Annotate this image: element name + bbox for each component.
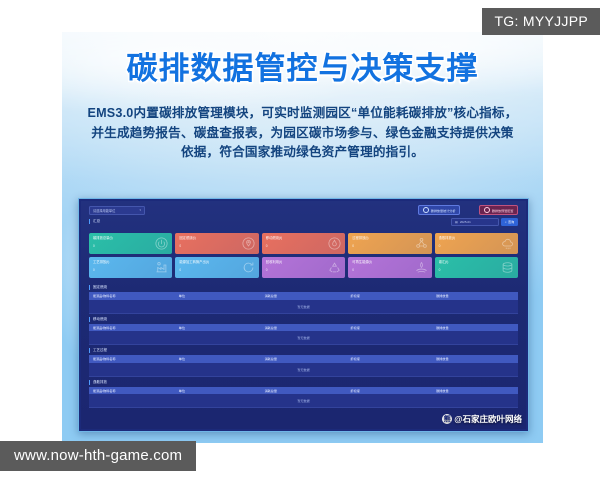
table-column-header: 碳排放量 bbox=[432, 325, 518, 330]
chevron-down-icon: ▾ bbox=[139, 209, 141, 212]
table-empty-state: 暂无数据 bbox=[89, 363, 518, 377]
table-column-header: 消耗总量 bbox=[261, 356, 347, 361]
kpi-card-value: 0 bbox=[266, 268, 345, 272]
table-section-title: 移动燃烧 bbox=[89, 317, 518, 322]
carbon-stats-button[interactable]: 碳排放量统计分析 bbox=[418, 205, 460, 215]
site-url-badge: www.now-hth-game.com bbox=[0, 441, 196, 471]
search-label: 查询 bbox=[508, 220, 514, 224]
kpi-card-value: 0 bbox=[439, 244, 518, 248]
kpi-card-value: 0 bbox=[93, 268, 172, 272]
unit-select-value: 请选择用能单位 bbox=[93, 208, 139, 213]
kpi-card-title: 能源加工转换产出(t) bbox=[179, 260, 258, 264]
watermark-logo-icon: 熊 bbox=[442, 414, 452, 424]
kpi-card-value: 0 bbox=[352, 244, 431, 248]
kpi-card-value: 0 bbox=[179, 244, 258, 248]
promo-description: EMS3.0内置碳排放管理模块，可实时监测园区“单位能耗碳排放”核心指标，并生成… bbox=[86, 104, 519, 163]
table-column-header: 折标煤 bbox=[346, 356, 432, 361]
table-column-header: 折标煤 bbox=[346, 388, 432, 393]
table-column-header: 能源品/物料名称 bbox=[89, 356, 175, 361]
watermark: 熊 @石家庄欧叶网络 bbox=[442, 413, 522, 425]
dashboard-screenshot: 请选择用能单位 ▾ 汇总 碳排放量统计分析 碳排放预警配置 ▤ 2025-01 bbox=[78, 198, 529, 432]
table-column-header: 能源品/物料名称 bbox=[89, 325, 175, 330]
alarm-config-label: 碳排放预警配置 bbox=[492, 208, 514, 213]
kpi-card-grid: 碳排放总量(t)0固定燃烧(t)0移动燃烧(t)0过程排放(t)0逸散排放(t)… bbox=[89, 233, 518, 278]
alarm-config-button[interactable]: 碳排放预警配置 bbox=[479, 205, 518, 215]
table-empty-state: 暂无数据 bbox=[89, 394, 518, 408]
table-section: 工艺过程能源品/物料名称单位消耗总量折标煤碳排放量暂无数据 bbox=[89, 348, 518, 377]
table-column-header: 能源品/物料名称 bbox=[89, 293, 175, 298]
kpi-card[interactable]: 能源加工转换产出(t)0 bbox=[175, 257, 258, 278]
telegram-badge: TG: MYYJJPP bbox=[482, 8, 600, 35]
kpi-card-title: 可再生能源(t) bbox=[352, 260, 431, 264]
table-section-title: 固定燃烧 bbox=[89, 285, 518, 290]
kpi-card-title: 碳排放总量(t) bbox=[93, 236, 172, 240]
kpi-card[interactable]: 碳排放总量(t)0 bbox=[89, 233, 172, 254]
kpi-card-title: 工艺排放(t) bbox=[93, 260, 172, 264]
calendar-icon: ▤ bbox=[455, 220, 458, 224]
table-header-row: 能源品/物料名称单位消耗总量折标煤碳排放量 bbox=[89, 324, 518, 332]
table-header-row: 能源品/物料名称单位消耗总量折标煤碳排放量 bbox=[89, 355, 518, 363]
kpi-card[interactable]: 过程排放(t)0 bbox=[348, 233, 431, 254]
kpi-card-value: 0 bbox=[179, 268, 258, 272]
kpi-card-value: 0 bbox=[439, 268, 518, 272]
table-section: 逸散排放能源品/物料名称单位消耗总量折标煤碳排放量暂无数据 bbox=[89, 380, 518, 409]
table-column-header: 单位 bbox=[175, 293, 261, 298]
search-icon: ⌕ bbox=[505, 220, 507, 224]
bell-icon bbox=[484, 207, 490, 213]
table-column-header: 单位 bbox=[175, 325, 261, 330]
table-section: 固定燃烧能源品/物料名称单位消耗总量折标煤碳排放量暂无数据 bbox=[89, 285, 518, 314]
kpi-card-title: 过程排放(t) bbox=[352, 236, 431, 240]
table-column-header: 能源品/物料名称 bbox=[89, 388, 175, 393]
kpi-card[interactable]: 逸散排放(t)0 bbox=[435, 233, 518, 254]
carbon-stats-label: 碳排放量统计分析 bbox=[431, 208, 456, 213]
table-section-title: 工艺过程 bbox=[89, 348, 518, 353]
kpi-card[interactable]: 可再生能源(t)0 bbox=[348, 257, 431, 278]
table-column-header: 单位 bbox=[175, 356, 261, 361]
kpi-card[interactable]: 移动燃烧(t)0 bbox=[262, 233, 345, 254]
table-column-header: 折标煤 bbox=[346, 293, 432, 298]
dashboard-inner: 请选择用能单位 ▾ 汇总 碳排放量统计分析 碳排放预警配置 ▤ 2025-01 bbox=[81, 201, 526, 429]
kpi-card-value: 0 bbox=[93, 244, 172, 248]
table-column-header: 消耗总量 bbox=[261, 325, 347, 330]
chart-icon bbox=[423, 207, 429, 213]
table-column-header: 碳排放量 bbox=[432, 388, 518, 393]
kpi-card[interactable]: 工艺排放(t)0 bbox=[89, 257, 172, 278]
table-header-row: 能源品/物料名称单位消耗总量折标煤碳排放量 bbox=[89, 387, 518, 395]
table-column-header: 单位 bbox=[175, 388, 261, 393]
kpi-card[interactable]: 回收利用(t)0 bbox=[262, 257, 345, 278]
table-column-header: 折标煤 bbox=[346, 325, 432, 330]
table-section-title: 逸散排放 bbox=[89, 380, 518, 385]
dashboard-toolbar: 请选择用能单位 ▾ 汇总 碳排放量统计分析 碳排放预警配置 ▤ 2025-01 bbox=[81, 201, 526, 231]
kpi-card-title: 碳汇(t) bbox=[439, 260, 518, 264]
table-column-header: 消耗总量 bbox=[261, 293, 347, 298]
kpi-card-value: 0 bbox=[266, 244, 345, 248]
summary-label: 汇总 bbox=[89, 219, 100, 224]
kpi-card-title: 固定燃烧(t) bbox=[179, 236, 258, 240]
table-empty-state: 暂无数据 bbox=[89, 331, 518, 345]
table-column-header: 碳排放量 bbox=[432, 356, 518, 361]
kpi-card-title: 逸散排放(t) bbox=[439, 236, 518, 240]
watermark-text: @石家庄欧叶网络 bbox=[454, 413, 522, 425]
table-column-header: 碳排放量 bbox=[432, 293, 518, 298]
unit-select[interactable]: 请选择用能单位 ▾ bbox=[89, 206, 145, 215]
kpi-card[interactable]: 碳汇(t)0 bbox=[435, 257, 518, 278]
page-title: 碳排数据管控与决策支撑 bbox=[62, 50, 543, 88]
kpi-card[interactable]: 固定燃烧(t)0 bbox=[175, 233, 258, 254]
table-column-header: 消耗总量 bbox=[261, 388, 347, 393]
table-sections: 固定燃烧能源品/物料名称单位消耗总量折标煤碳排放量暂无数据移动燃烧能源品/物料名… bbox=[89, 283, 518, 427]
date-value: 2025-01 bbox=[460, 220, 471, 224]
table-empty-state: 暂无数据 bbox=[89, 300, 518, 314]
search-button[interactable]: ⌕ 查询 bbox=[501, 218, 518, 226]
kpi-card-title: 回收利用(t) bbox=[266, 260, 345, 264]
kpi-card-title: 移动燃烧(t) bbox=[266, 236, 345, 240]
table-section: 移动燃烧能源品/物料名称单位消耗总量折标煤碳排放量暂无数据 bbox=[89, 317, 518, 346]
promo-banner: 碳排数据管控与决策支撑 EMS3.0内置碳排放管理模块，可实时监测园区“单位能耗… bbox=[62, 32, 543, 443]
table-header-row: 能源品/物料名称单位消耗总量折标煤碳排放量 bbox=[89, 292, 518, 300]
kpi-card-value: 0 bbox=[352, 268, 431, 272]
date-picker[interactable]: ▤ 2025-01 bbox=[451, 218, 499, 226]
